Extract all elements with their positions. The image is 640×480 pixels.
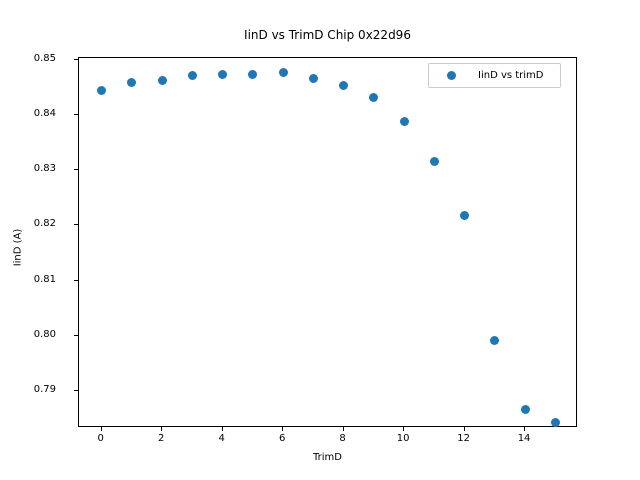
scatter-points-layer (79, 58, 576, 426)
y-tick-label: 0.79 (34, 385, 56, 395)
x-tick-mark (161, 427, 162, 431)
data-point (490, 336, 499, 345)
y-tick-label: 0.82 (34, 219, 56, 229)
data-point (400, 117, 409, 126)
data-point (279, 68, 288, 77)
x-tick-label: 12 (444, 434, 484, 444)
x-tick-label: 2 (141, 434, 181, 444)
data-point (460, 211, 469, 220)
data-point (127, 78, 136, 87)
x-tick-mark (222, 427, 223, 431)
x-tick-mark (282, 427, 283, 431)
data-point (551, 418, 560, 427)
chart-title: IinD vs TrimD Chip 0x22d96 (78, 28, 577, 42)
y-axis-label: IinD (A) (13, 168, 24, 328)
legend-marker-icon (447, 71, 456, 80)
x-tick-mark (101, 427, 102, 431)
x-tick-label: 0 (81, 434, 121, 444)
data-point (158, 76, 167, 85)
x-tick-label: 4 (202, 434, 242, 444)
y-tick-label: 0.80 (34, 330, 56, 340)
data-point (188, 71, 197, 80)
x-tick-label: 6 (262, 434, 302, 444)
data-point (521, 405, 530, 414)
legend-entry-label: IinD vs trimD (478, 70, 544, 81)
x-tick-mark (343, 427, 344, 431)
x-tick-label: 14 (504, 434, 544, 444)
y-tick-label: 0.83 (34, 164, 56, 174)
data-point (309, 74, 318, 83)
data-point (430, 157, 439, 166)
data-point (248, 70, 257, 79)
data-point (97, 86, 106, 95)
x-tick-mark (403, 427, 404, 431)
data-point (339, 81, 348, 90)
x-axis-label: TrimD (78, 452, 577, 463)
x-tick-label: 10 (383, 434, 423, 444)
x-tick-mark (524, 427, 525, 431)
x-tick-mark (464, 427, 465, 431)
matplotlib-figure: IinD vs TrimD Chip 0x22d96 IinD (A) Trim… (0, 0, 640, 480)
data-point (218, 70, 227, 79)
y-tick-label: 0.84 (34, 109, 56, 119)
y-tick-label: 0.81 (34, 275, 56, 285)
y-tick-label: 0.85 (34, 54, 56, 64)
chart-legend: IinD vs trimD (428, 63, 561, 88)
plot-area (78, 57, 577, 427)
data-point (369, 93, 378, 102)
x-tick-label: 8 (323, 434, 363, 444)
